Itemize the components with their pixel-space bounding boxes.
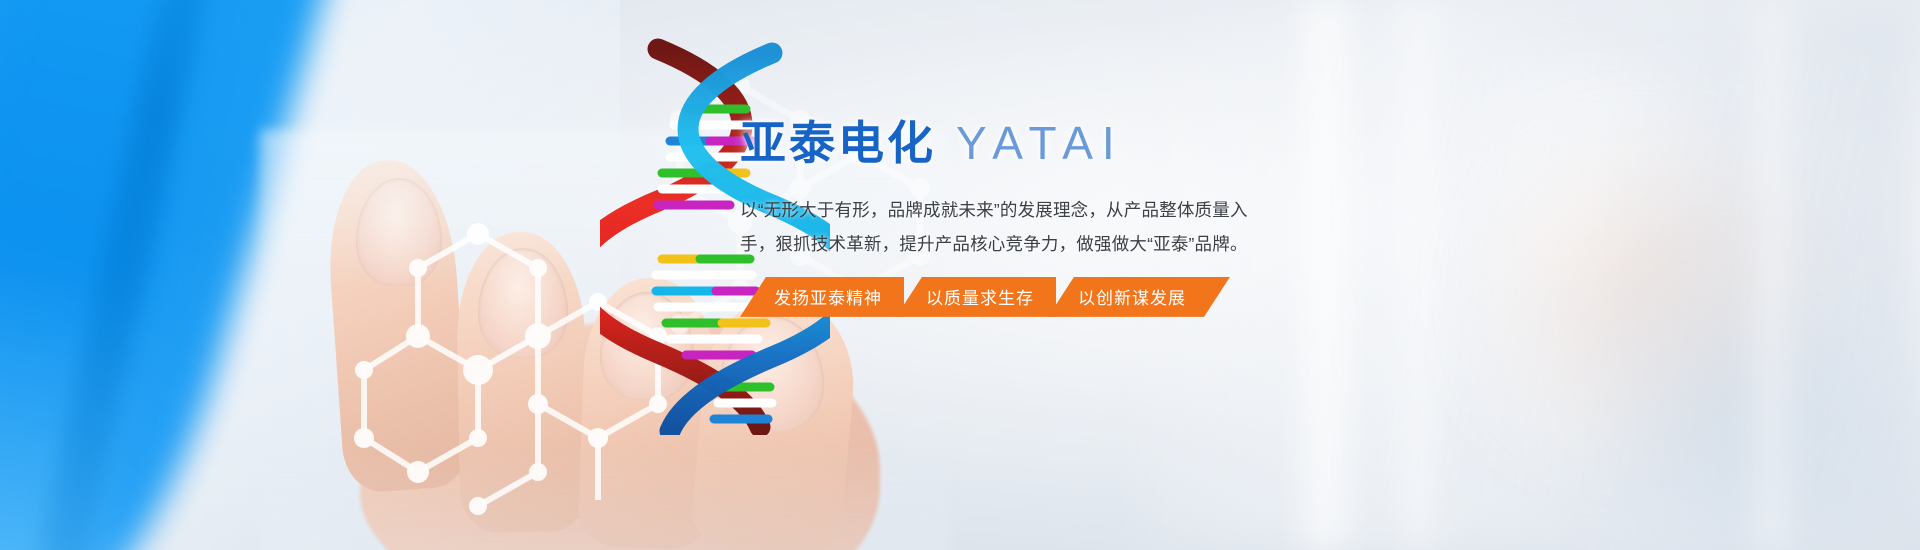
background-streak-3 — [1742, 0, 1802, 550]
description-line-2: 手，狠抓技术革新，提升产品核心竞争力，做强做大“亚泰”品牌。 — [740, 227, 1250, 261]
slogan-tag-list: 发扬亚泰精神 以质量求生存 以创新谋发展 — [740, 277, 1280, 317]
brand-title-cn: 亚泰电化 — [740, 117, 936, 169]
slogan-tag-3[interactable]: 以创新谋发展 — [1048, 277, 1230, 317]
description-line-1: 以“无形大于有形，品牌成就未来”的发展理念，从产品整体质量入 — [740, 193, 1250, 227]
slogan-tag-1[interactable]: 发扬亚泰精神 — [740, 277, 904, 317]
background-streak-2 — [1395, 0, 1441, 550]
banner-content: 亚泰电化YATAI 以“无形大于有形，品牌成就未来”的发展理念，从产品整体质量入… — [740, 118, 1280, 317]
brand-description: 以“无形大于有形，品牌成就未来”的发展理念，从产品整体质量入 手，狠抓技术革新，… — [740, 193, 1250, 261]
brand-title: 亚泰电化YATAI — [740, 118, 1280, 169]
promo-banner: 亚泰电化YATAI 以“无形大于有形，品牌成就未来”的发展理念，从产品整体质量入… — [0, 0, 1920, 550]
brand-title-en: YATAI — [956, 117, 1124, 169]
background-streak-1 — [1290, 0, 1360, 550]
slogan-tag-2[interactable]: 以质量求生存 — [896, 277, 1056, 317]
